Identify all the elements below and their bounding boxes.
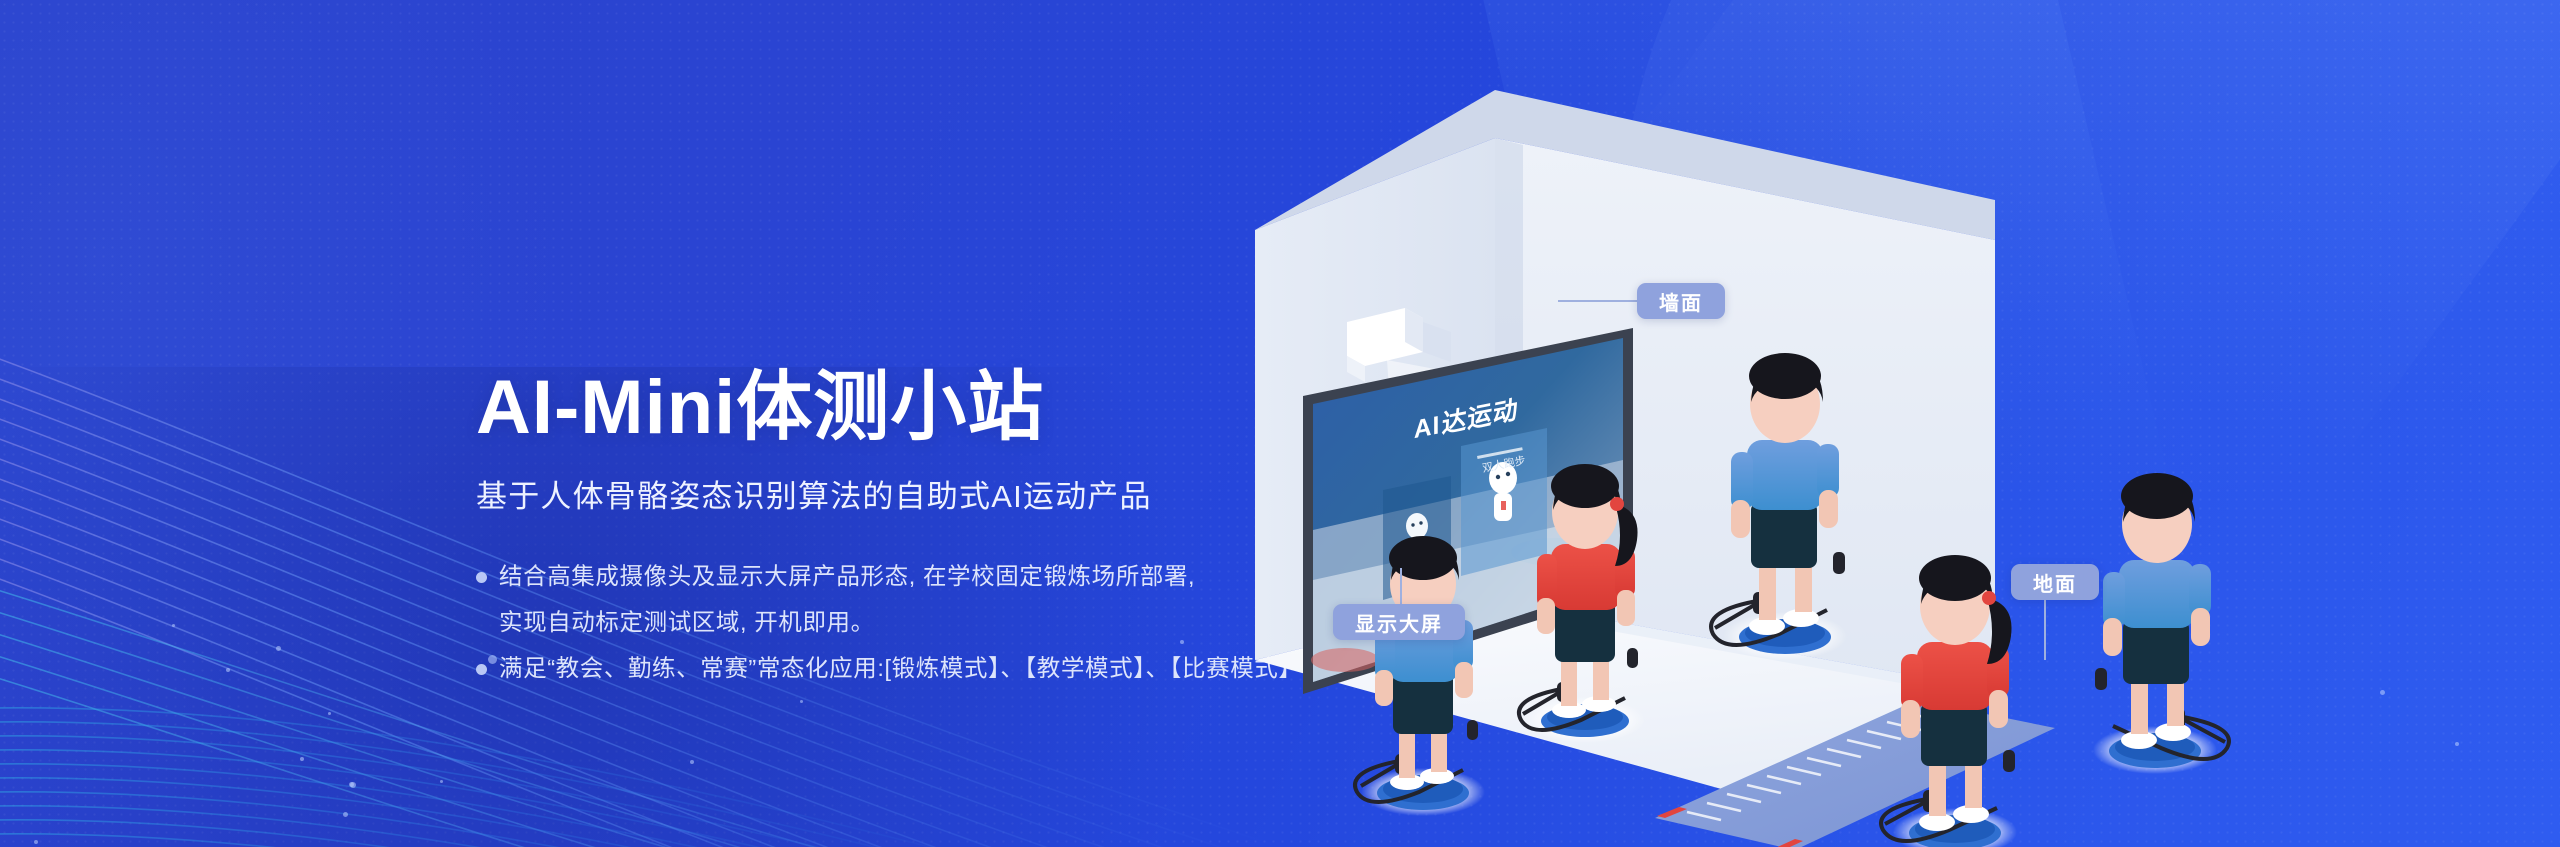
hair-tie (1982, 591, 1996, 605)
list-item-continuation: 实现自动标定测试区域, 开机即用。 (476, 602, 1356, 642)
callout-label-floor: 地面 (2011, 564, 2099, 600)
callout-label-screen: 显示大屏 (1333, 604, 1465, 640)
leader-line-wall (1558, 300, 1638, 302)
bullet-line: 满足“教会、勤练、常赛”常态化应用:[锻炼模式】、【教学模式】、【比赛模式】 (499, 648, 1303, 688)
page-subtitle: 基于人体骨骼姿态识别算法的自助式AI运动产品 (476, 471, 1356, 516)
leader-line-screen (1400, 568, 1402, 606)
bullet-dot-icon (476, 572, 487, 583)
hair-tie (1610, 497, 1624, 511)
isometric-room-illustration: AI达运动 双人跑步 (1255, 60, 2545, 847)
bullet-line: 实现自动标定测试区域, 开机即用。 (499, 602, 875, 642)
page-title: AI-Mini体测小站 (476, 368, 1356, 449)
list-item: 满足“教会、勤练、常赛”常态化应用:[锻炼模式】、【教学模式】、【比赛模式】 (476, 648, 1356, 688)
leader-line-floor (2044, 600, 2046, 660)
banner-text-column: AI-Mini体测小站 基于人体骨骼姿态识别算法的自助式AI运动产品 结合高集成… (476, 368, 1356, 695)
promo-banner: AI-Mini体测小站 基于人体骨骼姿态识别算法的自助式AI运动产品 结合高集成… (0, 0, 2560, 847)
feature-bullet-list: 结合高集成摄像头及显示大屏产品形态, 在学校固定锻炼场所部署, 实现自动标定测试… (476, 556, 1356, 689)
callout-label-wall: 墙面 (1637, 283, 1725, 319)
bullet-dot-icon (476, 664, 487, 675)
person-figure (2093, 473, 2229, 774)
bullet-line: 结合高集成摄像头及显示大屏产品形态, 在学校固定锻炼场所部署, (499, 556, 1195, 596)
list-item: 结合高集成摄像头及显示大屏产品形态, 在学校固定锻炼场所部署, (476, 556, 1356, 596)
